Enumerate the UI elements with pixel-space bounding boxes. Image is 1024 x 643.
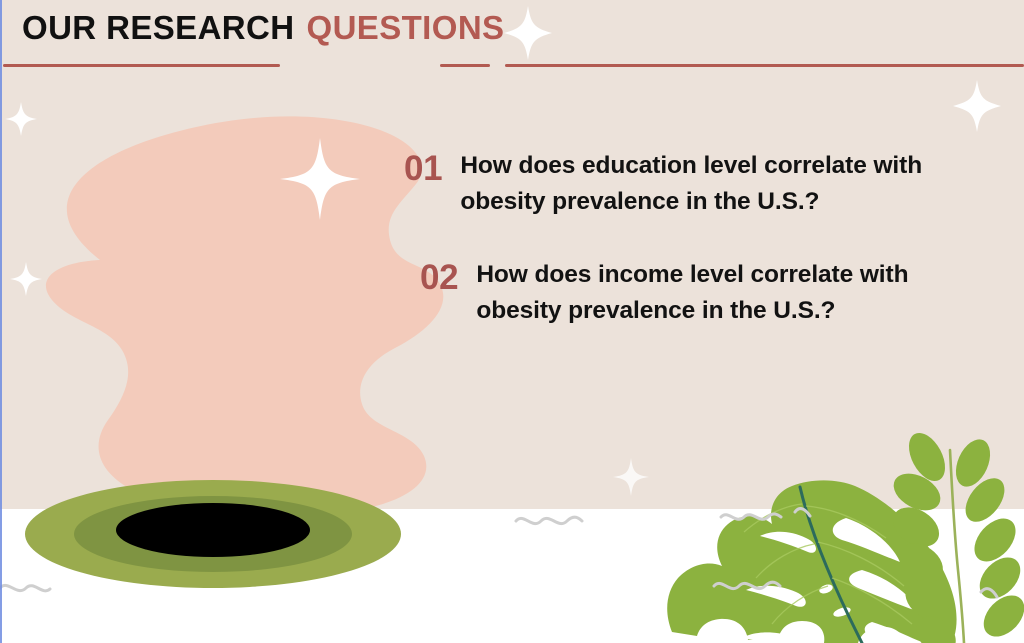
squiggle-icon <box>516 517 582 523</box>
question-number: 02 <box>420 257 458 297</box>
squiggle-icon <box>795 509 810 516</box>
research-questions-list: 01 How does education level correlate wi… <box>404 148 1004 328</box>
squiggle-icon <box>714 582 780 588</box>
question-text: How does education level correlate with … <box>460 148 970 219</box>
squiggle-icon <box>721 514 781 519</box>
header-rule-left <box>3 64 280 67</box>
question-number: 01 <box>404 148 442 188</box>
squiggle-icon <box>981 589 997 597</box>
leaf-midrib <box>800 487 862 643</box>
question-text: How does income level correlate with obe… <box>476 257 976 328</box>
page-title-accent: QUESTIONS <box>307 11 505 44</box>
ellipse-inner-black <box>116 503 310 557</box>
slide-header: OUR RESEARCH QUESTIONS <box>22 11 504 44</box>
squiggle-decorations <box>0 509 997 597</box>
slide-canvas: OUR RESEARCH QUESTIONS 01 How does educa… <box>0 0 1024 643</box>
header-rule-middle <box>440 64 490 67</box>
list-item: 02 How does income level correlate with … <box>420 257 1004 328</box>
page-title-main: OUR RESEARCH <box>22 11 295 44</box>
left-edge-accent-line <box>0 0 2 643</box>
header-rule-right <box>505 64 1024 67</box>
list-item: 01 How does education level correlate wi… <box>404 148 1004 219</box>
squiggle-icon <box>0 585 50 590</box>
